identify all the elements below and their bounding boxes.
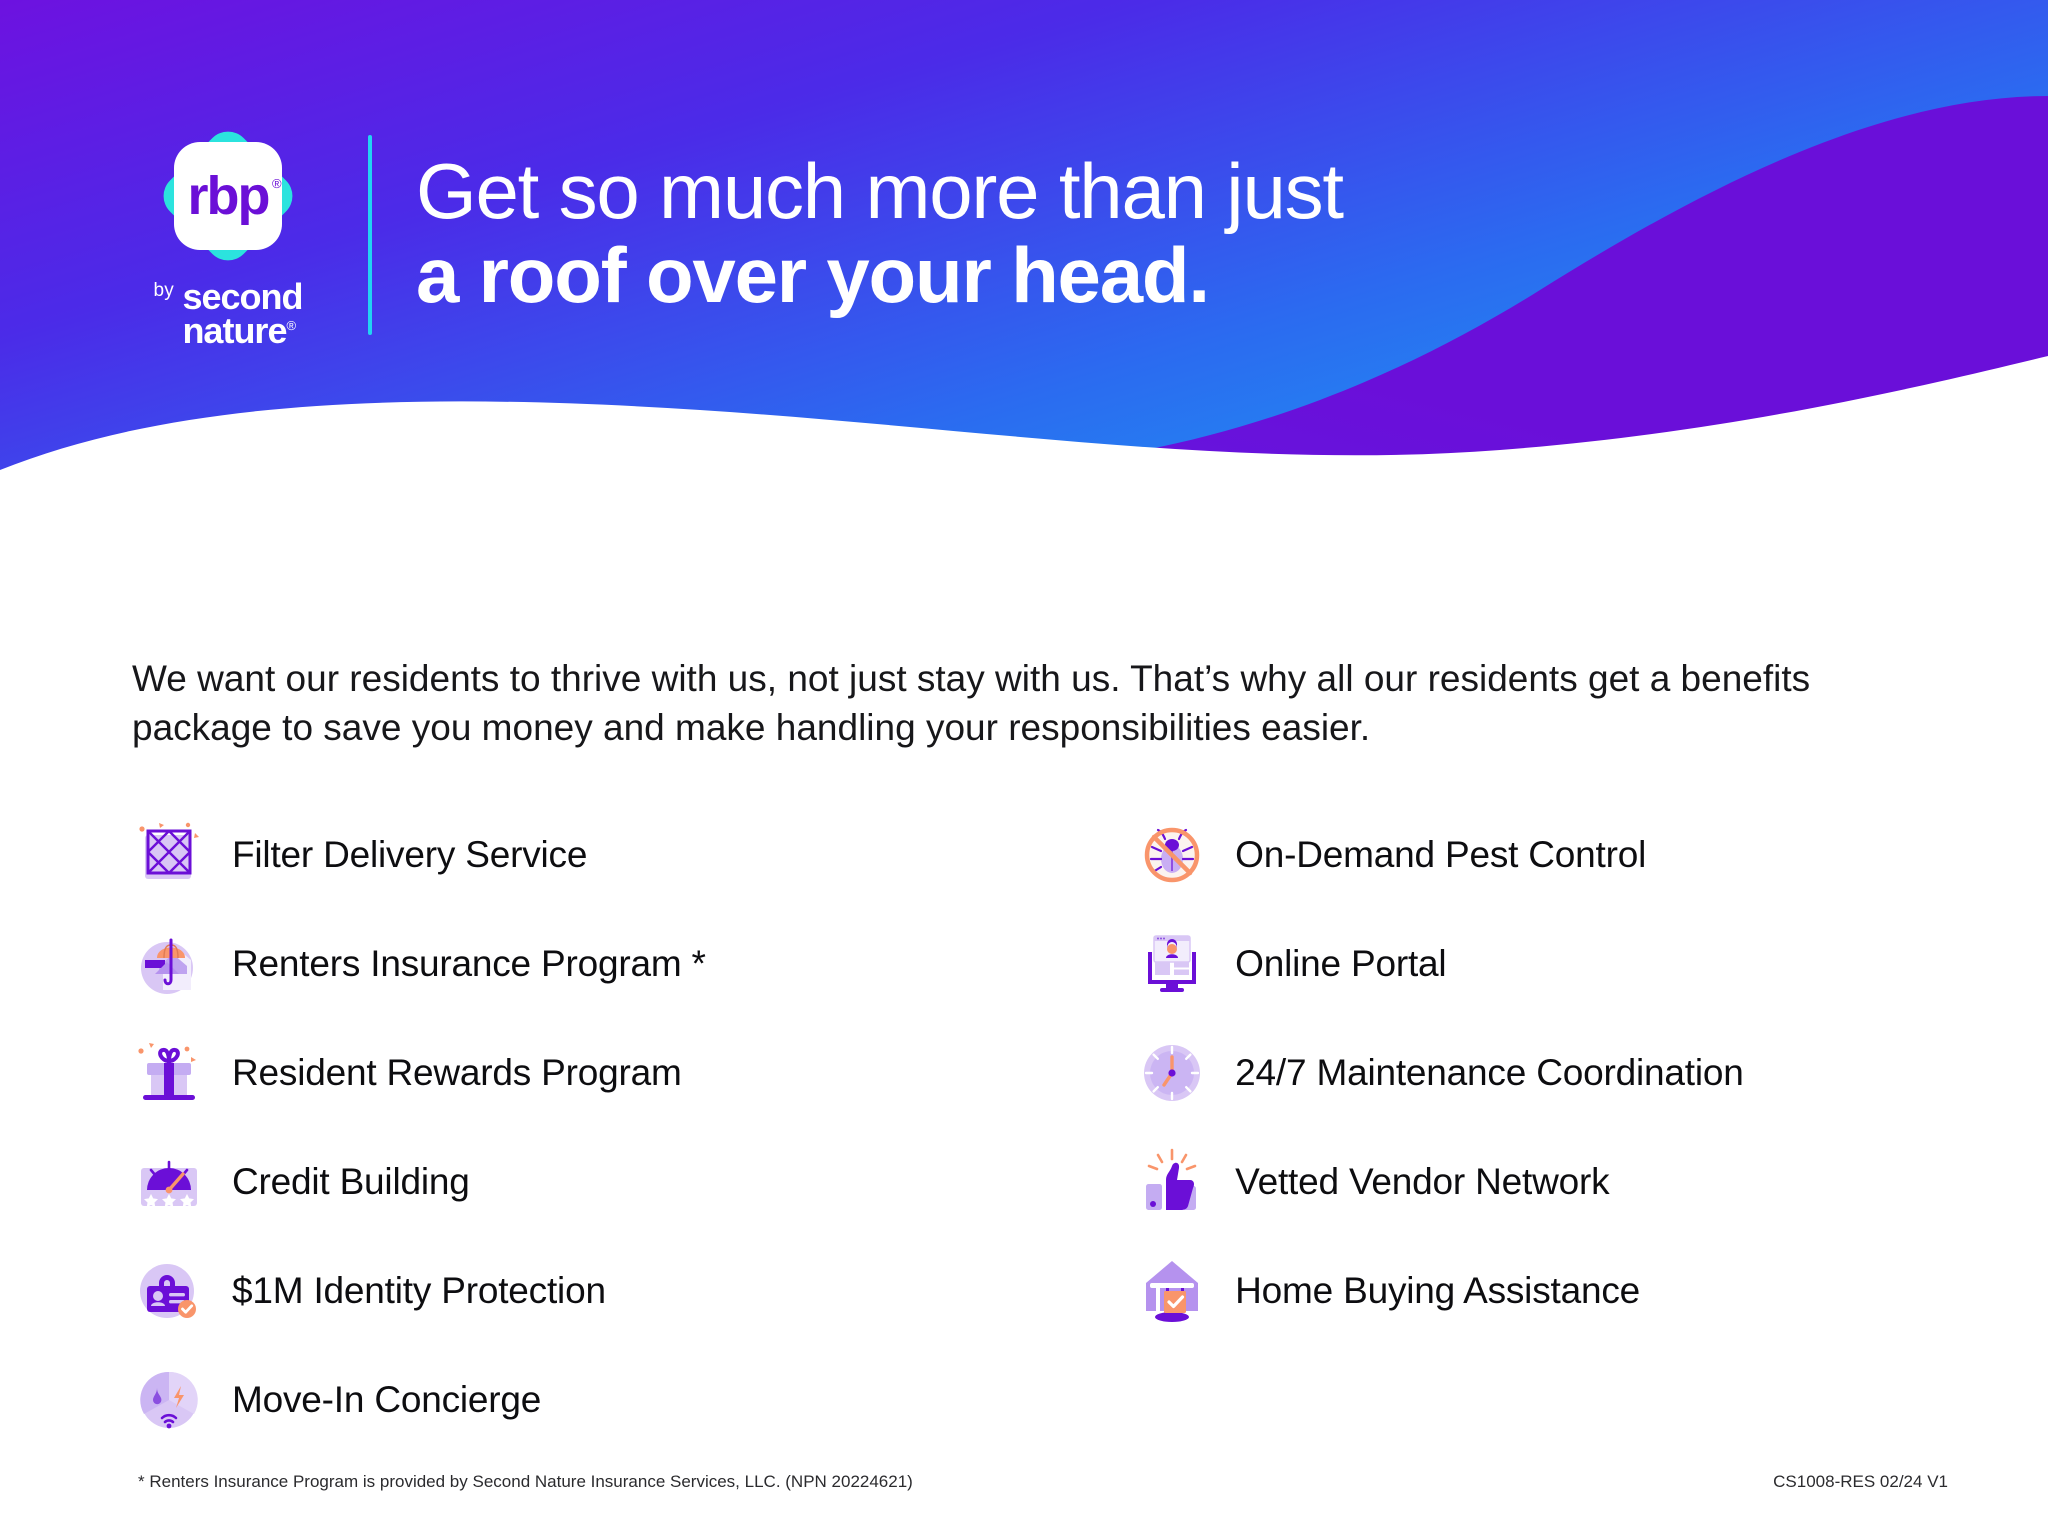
air-filter-icon — [132, 818, 206, 892]
benefit-filter-delivery-service: Filter Delivery Service — [132, 800, 1055, 909]
benefit-label: $1M Identity Protection — [232, 1270, 606, 1312]
umbrella-house-icon — [132, 927, 206, 1001]
company-line-2: nature — [182, 310, 286, 351]
benefit-renters-insurance-program: Renters Insurance Program * — [132, 909, 1055, 1018]
benefits-list: Filter Delivery Service Renters Insuranc… — [132, 800, 1932, 1454]
id-badge-lock-icon — [132, 1254, 206, 1328]
benefit-label: Renters Insurance Program * — [232, 943, 706, 985]
benefit-move-in-concierge: Move-In Concierge — [132, 1345, 1055, 1454]
brand-logo: rbp ® by second nature® — [128, 122, 328, 347]
benefit-label: 24/7 Maintenance Coordination — [1235, 1052, 1743, 1094]
registered-mark: ® — [286, 318, 295, 333]
brand-company-name: second nature® — [182, 280, 302, 346]
benefit-maintenance-coordination: 24/7 Maintenance Coordination — [1135, 1018, 1932, 1127]
benefit-vetted-vendor-network: Vetted Vendor Network — [1135, 1127, 1932, 1236]
vertical-divider — [368, 135, 372, 335]
benefit-label: Resident Rewards Program — [232, 1052, 682, 1094]
thumbs-up-icon — [1135, 1145, 1209, 1219]
headline-line-1: Get so much more than just — [416, 151, 2048, 232]
credit-gauge-icon — [132, 1145, 206, 1219]
page-title: Get so much more than just a roof over y… — [416, 151, 2048, 319]
brand-by-label: by — [154, 280, 174, 302]
document-code: CS1008-RES 02/24 V1 — [1773, 1472, 1948, 1492]
hero-banner: rbp ® by second nature® Get so much more… — [0, 0, 2048, 600]
benefit-resident-rewards-program: Resident Rewards Program — [132, 1018, 1055, 1127]
monitor-portal-icon — [1135, 927, 1209, 1001]
intro-paragraph: We want our residents to thrive with us,… — [132, 655, 1922, 753]
benefit-credit-building: Credit Building — [132, 1127, 1055, 1236]
benefits-right-column: On-Demand Pest Control — [1135, 800, 1932, 1454]
no-pest-icon — [1135, 818, 1209, 892]
benefit-label: Home Buying Assistance — [1235, 1270, 1640, 1312]
gift-box-icon — [132, 1036, 206, 1110]
house-sign-check-icon — [1135, 1254, 1209, 1328]
headline-line-2: a roof over your head. — [416, 232, 2048, 319]
benefit-label: Vetted Vendor Network — [1235, 1161, 1609, 1203]
benefit-online-portal: Online Portal — [1135, 909, 1932, 1018]
benefit-label: Filter Delivery Service — [232, 834, 587, 876]
benefit-label: Online Portal — [1235, 943, 1446, 985]
benefit-label: On-Demand Pest Control — [1235, 834, 1646, 876]
benefits-left-column: Filter Delivery Service Renters Insuranc… — [132, 800, 1055, 1454]
benefit-home-buying-assistance: Home Buying Assistance — [1135, 1236, 1932, 1345]
svg-text:rbp: rbp — [188, 166, 269, 226]
benefit-label: Move-In Concierge — [232, 1379, 541, 1421]
benefit-pest-control: On-Demand Pest Control — [1135, 800, 1932, 909]
benefit-label: Credit Building — [232, 1161, 470, 1203]
footnote-disclaimer: * Renters Insurance Program is provided … — [138, 1472, 913, 1492]
clock-icon — [1135, 1036, 1209, 1110]
utilities-circle-icon — [132, 1363, 206, 1437]
brand-tagline: by second nature® — [154, 280, 303, 347]
svg-text:®: ® — [272, 176, 282, 191]
rbp-logo-mark: rbp ® — [154, 122, 302, 270]
benefit-identity-protection: $1M Identity Protection — [132, 1236, 1055, 1345]
